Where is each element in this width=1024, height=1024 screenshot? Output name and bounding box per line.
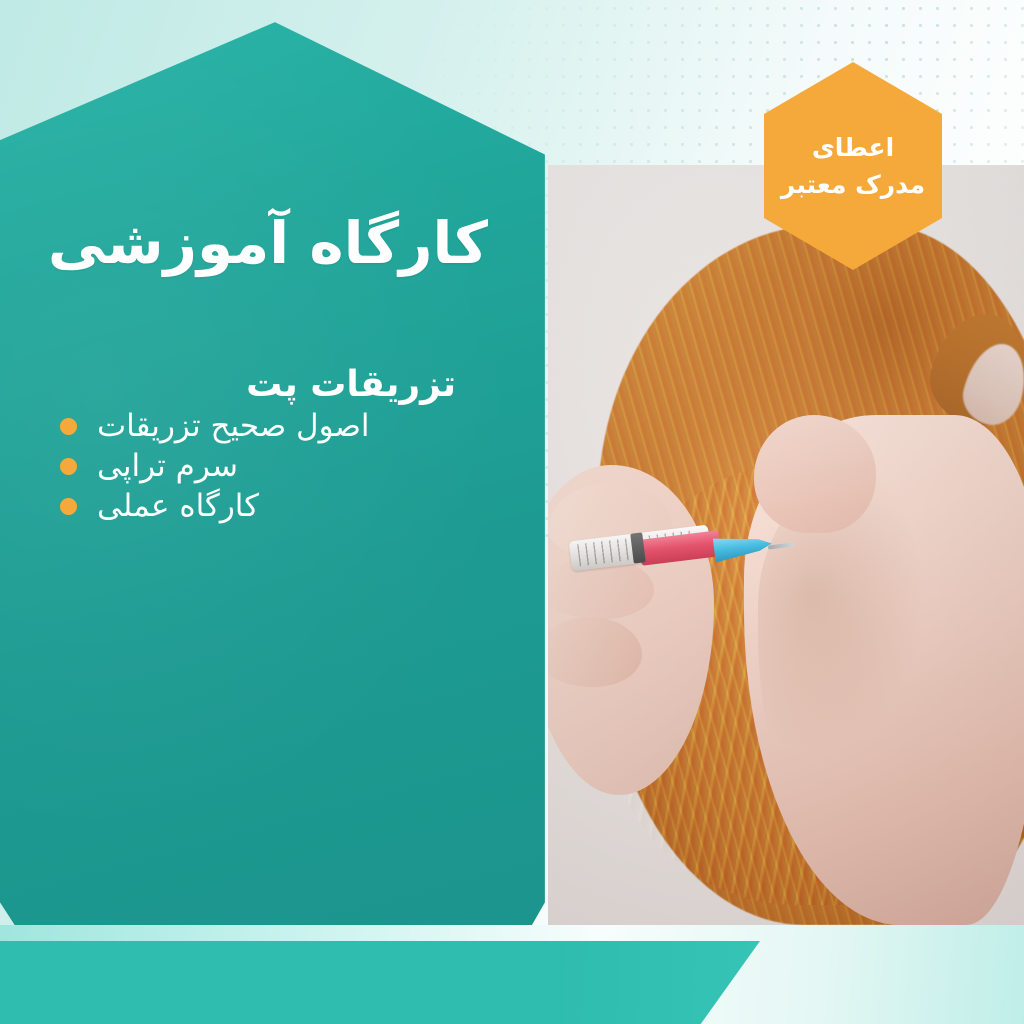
- badge-line-1: اعطای: [812, 132, 894, 163]
- hero-photo: [548, 165, 1024, 925]
- page-title: کارگاه آموزشی: [40, 210, 520, 277]
- poster-canvas: اعطای مدرک معتبر کارگاه آموزشی تزریقات پ…: [0, 0, 1024, 1024]
- bullet-dot-icon: [60, 418, 77, 435]
- bottom-teal-bar-left: [0, 941, 560, 1024]
- list-item: کارگاه عملی: [60, 486, 520, 526]
- list-item: اصول صحیح تزریقات: [60, 406, 520, 446]
- content-block: کارگاه آموزشی تزریقات پت اصول صحیح تزریق…: [40, 210, 520, 527]
- vet-thumb: [754, 415, 876, 533]
- list-item-label: سرم تراپی: [97, 446, 238, 486]
- topic-list: اصول صحیح تزریقات سرم تراپی کارگاه عملی: [40, 406, 520, 527]
- list-item-label: کارگاه عملی: [97, 486, 259, 526]
- page-subtitle: تزریقات پت: [40, 363, 520, 406]
- bullet-dot-icon: [60, 458, 77, 475]
- badge-line-2: مدرک معتبر: [781, 169, 925, 200]
- bullet-dot-icon: [60, 498, 77, 515]
- list-item: سرم تراپی: [60, 446, 520, 486]
- list-item-label: اصول صحیح تزریقات: [97, 406, 370, 446]
